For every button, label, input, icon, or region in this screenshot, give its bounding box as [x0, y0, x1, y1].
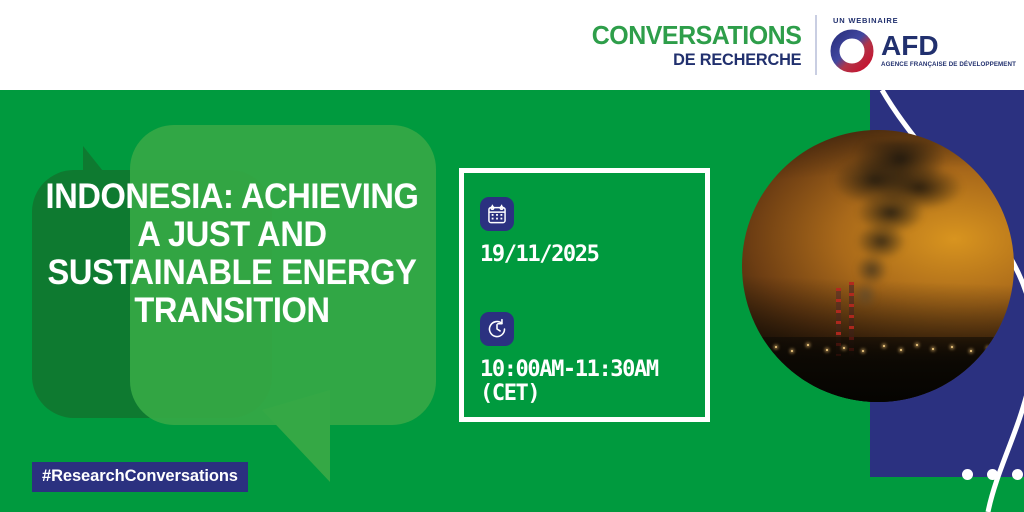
webinar-photo — [742, 130, 1014, 402]
dot-3 — [1012, 469, 1023, 480]
afd-logo-row: AFD AGENCE FRANÇAISE DE DÉVELOPPEMENT — [829, 28, 1016, 74]
header-bar: CONVERSATIONS DE RECHERCHE UN WEBINAIRE — [0, 0, 1024, 90]
page-title: INDONESIA: ACHIEVING A JUST AND SUSTAINA… — [44, 178, 420, 331]
photo-smoke-plume — [818, 141, 976, 321]
dot-2 — [987, 469, 998, 480]
afd-ring-icon — [829, 28, 875, 74]
logo-group: CONVERSATIONS DE RECHERCHE UN WEBINAIRE — [583, 13, 1016, 77]
afd-name: AFD — [881, 33, 1016, 60]
afd-text: AFD AGENCE FRANÇAISE DE DÉVELOPPEMENT — [881, 33, 1016, 69]
webinar-kicker: UN WEBINAIRE — [833, 16, 1016, 25]
event-time: 10:00AM-11:30AM (CET) — [480, 358, 705, 407]
photo-city-lights — [742, 339, 1014, 355]
afd-subtitle: AGENCE FRANÇAISE DE DÉVELOPPEMENT — [881, 61, 1016, 69]
clock-icon — [480, 312, 514, 346]
conversations-de-recherche-logo: CONVERSATIONS DE RECHERCHE — [583, 22, 815, 68]
brand-line-2: DE RECHERCHE — [591, 51, 801, 68]
logo-divider — [815, 15, 817, 75]
brand-line-1: CONVERSATIONS — [591, 22, 801, 48]
hashtag-badge: #ResearchConversations — [32, 462, 248, 492]
decor-dots — [962, 469, 1023, 480]
calendar-icon — [480, 197, 514, 231]
event-time-block: 10:00AM-11:30AM (CET) — [480, 312, 705, 407]
dot-1 — [962, 469, 973, 480]
afd-logo-block: UN WEBINAIRE — [829, 9, 1016, 81]
event-info-box: 19/11/2025 10:00AM-11:30AM (CET) — [459, 168, 710, 422]
event-date: 19/11/2025 — [480, 243, 705, 268]
